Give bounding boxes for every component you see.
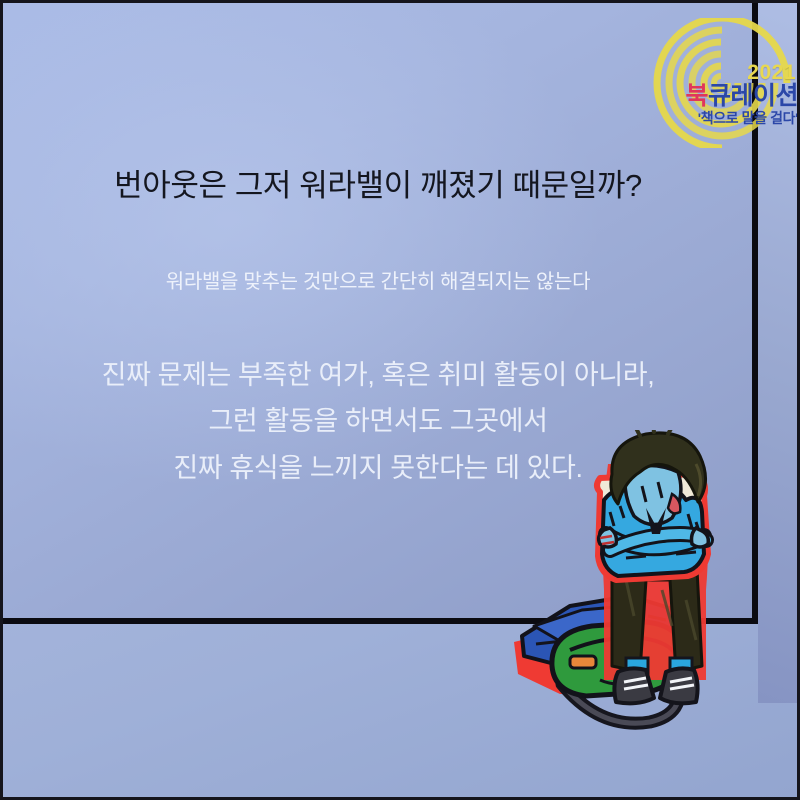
illustration-svg — [500, 430, 800, 770]
page-title: 번아웃은 그저 워라밸이 깨졌기 때문일까? — [0, 160, 756, 205]
logo-year: 2021 — [685, 62, 796, 83]
body-line: 진짜 문제는 부족한 여가, 혹은 취미 활동이 아니라, — [0, 352, 756, 398]
logo-title: 북큐레이션 — [685, 84, 798, 109]
logo-tagline: '책으로 말을 걸다' — [685, 111, 798, 125]
illustration-slumped-person — [500, 430, 800, 770]
logo-wordmark: 2021 북큐레이션 '책으로 말을 걸다' — [685, 62, 798, 125]
backpack-orange-patch — [570, 656, 596, 668]
logo-title-rest: 큐레이션 — [708, 82, 798, 110]
book-curation-card: 2021 북큐레이션 '책으로 말을 걸다' 번아웃은 그저 워라밸이 깨졌기 … — [0, 0, 800, 800]
logo-title-mark: 북 — [685, 82, 708, 110]
page-subtitle: 워라밸을 맞추는 것만으로 간단히 해결되지는 않는다 — [0, 265, 756, 294]
book-curation-logo: 2021 북큐레이션 '책으로 말을 걸다' — [642, 18, 800, 148]
